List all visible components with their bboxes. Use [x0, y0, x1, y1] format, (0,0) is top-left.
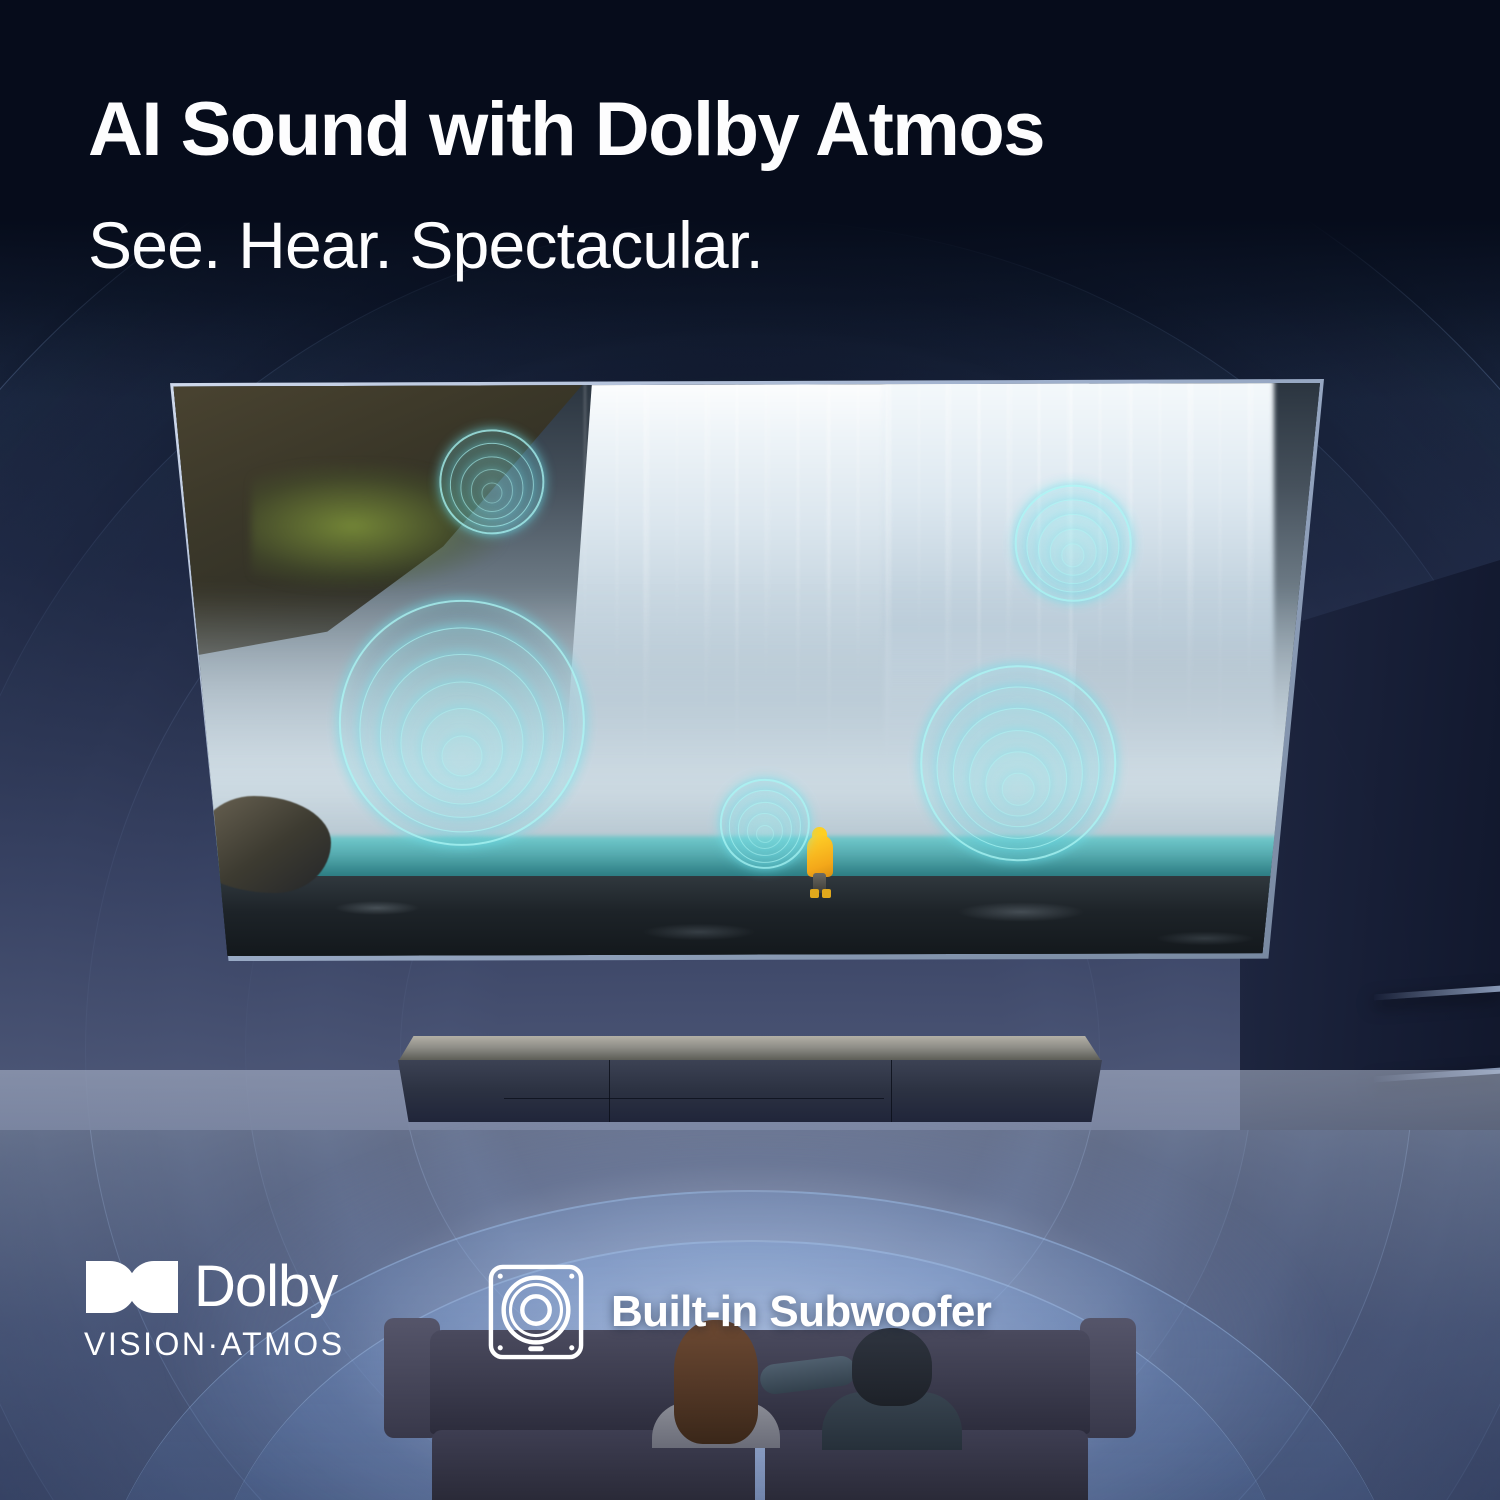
room-wall-right: [1240, 560, 1500, 1130]
console-top-surface: [398, 1036, 1102, 1062]
dolby-badge: Dolby VISION·ATMOS: [84, 1258, 384, 1363]
subwoofer-badge: Built-in Subwoofer: [487, 1263, 991, 1361]
subwoofer-label: Built-in Subwoofer: [611, 1287, 991, 1337]
subwoofer-icon: [487, 1263, 585, 1361]
promo-banner: AI Sound with Dolby Atmos See. Hear. Spe…: [0, 0, 1500, 1500]
dolby-subtitle: VISION·ATMOS: [84, 1326, 384, 1363]
console-seam-right: [891, 1060, 892, 1122]
console-seam-left: [609, 1060, 610, 1122]
page-subtitle: See. Hear. Spectacular.: [88, 212, 763, 278]
console-drawer-line: [504, 1098, 884, 1099]
dolby-wordmark: Dolby: [194, 1258, 337, 1316]
dolby-double-d-logo-icon: [84, 1259, 180, 1315]
page-title: AI Sound with Dolby Atmos: [88, 92, 1044, 168]
media-console: [398, 1036, 1102, 1122]
console-body: [398, 1060, 1102, 1122]
